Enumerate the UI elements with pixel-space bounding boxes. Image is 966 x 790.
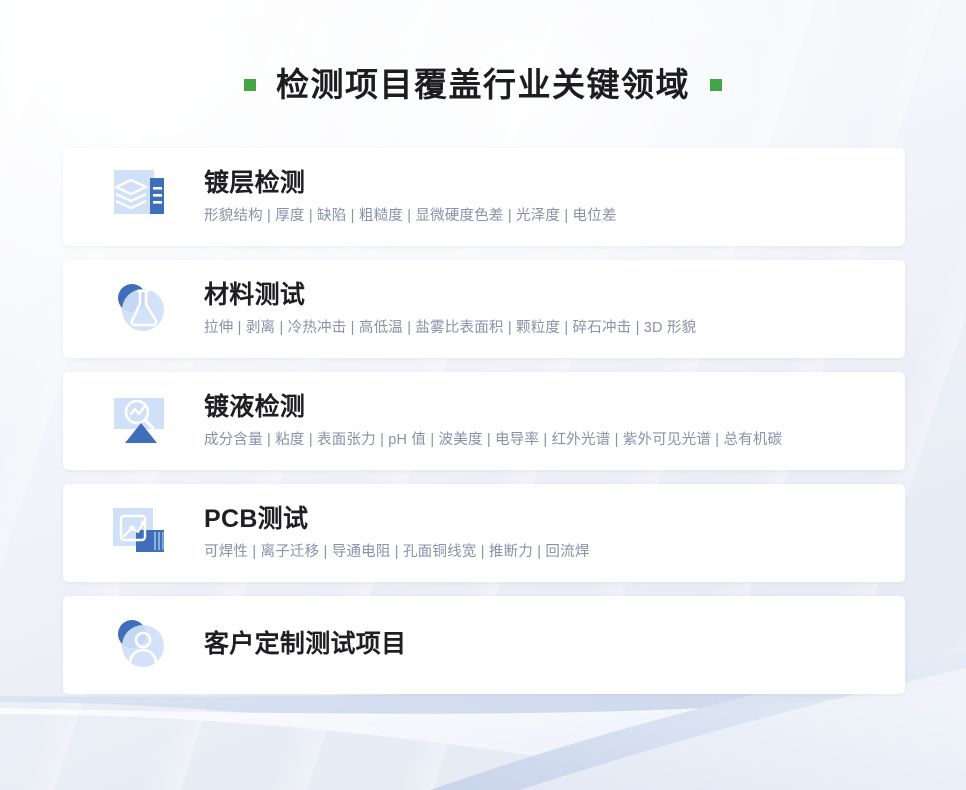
card-subtitle: 可焊性 | 离子迁移 | 导通电阻 | 孔面铜线宽 | 推断力 | 回流焊 bbox=[204, 543, 889, 562]
card-subtitle: 拉伸 | 剥离 | 冷热冲击 | 高低温 | 盐雾比表面积 | 颗粒度 | 碎石… bbox=[204, 319, 889, 338]
flask-icon bbox=[110, 278, 172, 340]
card-title: 客户定制测试项目 bbox=[204, 629, 889, 660]
square-mark-right-icon bbox=[710, 79, 722, 91]
card-title: 材料测试 bbox=[204, 280, 889, 311]
card-text-block: 镀液检测 成分含量 | 粘度 | 表面张力 | pH 值 | 波美度 | 电导率… bbox=[204, 392, 905, 449]
card-subtitle: 成分含量 | 粘度 | 表面张力 | pH 值 | 波美度 | 电导率 | 红外… bbox=[204, 431, 889, 450]
card-title: 镀层检测 bbox=[204, 168, 889, 199]
card-text-block: 材料测试 拉伸 | 剥离 | 冷热冲击 | 高低温 | 盐雾比表面积 | 颗粒度… bbox=[204, 280, 905, 337]
circuit-board-icon bbox=[110, 502, 172, 564]
card-text-block: 客户定制测试项目 bbox=[204, 629, 905, 660]
magnifier-chart-icon bbox=[110, 390, 172, 452]
card-pcb-testing[interactable]: PCB测试 可焊性 | 离子迁移 | 导通电阻 | 孔面铜线宽 | 推断力 | … bbox=[63, 484, 905, 582]
card-title: PCB测试 bbox=[204, 504, 889, 535]
card-material-testing[interactable]: 材料测试 拉伸 | 剥离 | 冷热冲击 | 高低温 | 盐雾比表面积 | 颗粒度… bbox=[63, 260, 905, 358]
layers-icon bbox=[110, 166, 172, 228]
user-circles-icon bbox=[110, 614, 172, 676]
card-title: 镀液检测 bbox=[204, 392, 889, 423]
card-custom-testing[interactable]: 客户定制测试项目 bbox=[63, 596, 905, 694]
page-title: 检测项目覆盖行业关键领域 bbox=[276, 68, 690, 101]
square-mark-left-icon bbox=[244, 79, 256, 91]
card-coating-inspection[interactable]: 镀层检测 形貌结构 | 厚度 | 缺陷 | 粗糙度 | 显微硬度色差 | 光泽度… bbox=[63, 148, 905, 246]
service-card-list: 镀层检测 形貌结构 | 厚度 | 缺陷 | 粗糙度 | 显微硬度色差 | 光泽度… bbox=[63, 148, 905, 708]
card-text-block: 镀层检测 形貌结构 | 厚度 | 缺陷 | 粗糙度 | 显微硬度色差 | 光泽度… bbox=[204, 168, 905, 225]
card-plating-solution-inspection[interactable]: 镀液检测 成分含量 | 粘度 | 表面张力 | pH 值 | 波美度 | 电导率… bbox=[63, 372, 905, 470]
card-text-block: PCB测试 可焊性 | 离子迁移 | 导通电阻 | 孔面铜线宽 | 推断力 | … bbox=[204, 504, 905, 561]
page-title-row: 检测项目覆盖行业关键领域 bbox=[0, 68, 966, 101]
card-subtitle: 形貌结构 | 厚度 | 缺陷 | 粗糙度 | 显微硬度色差 | 光泽度 | 电位… bbox=[204, 207, 889, 226]
